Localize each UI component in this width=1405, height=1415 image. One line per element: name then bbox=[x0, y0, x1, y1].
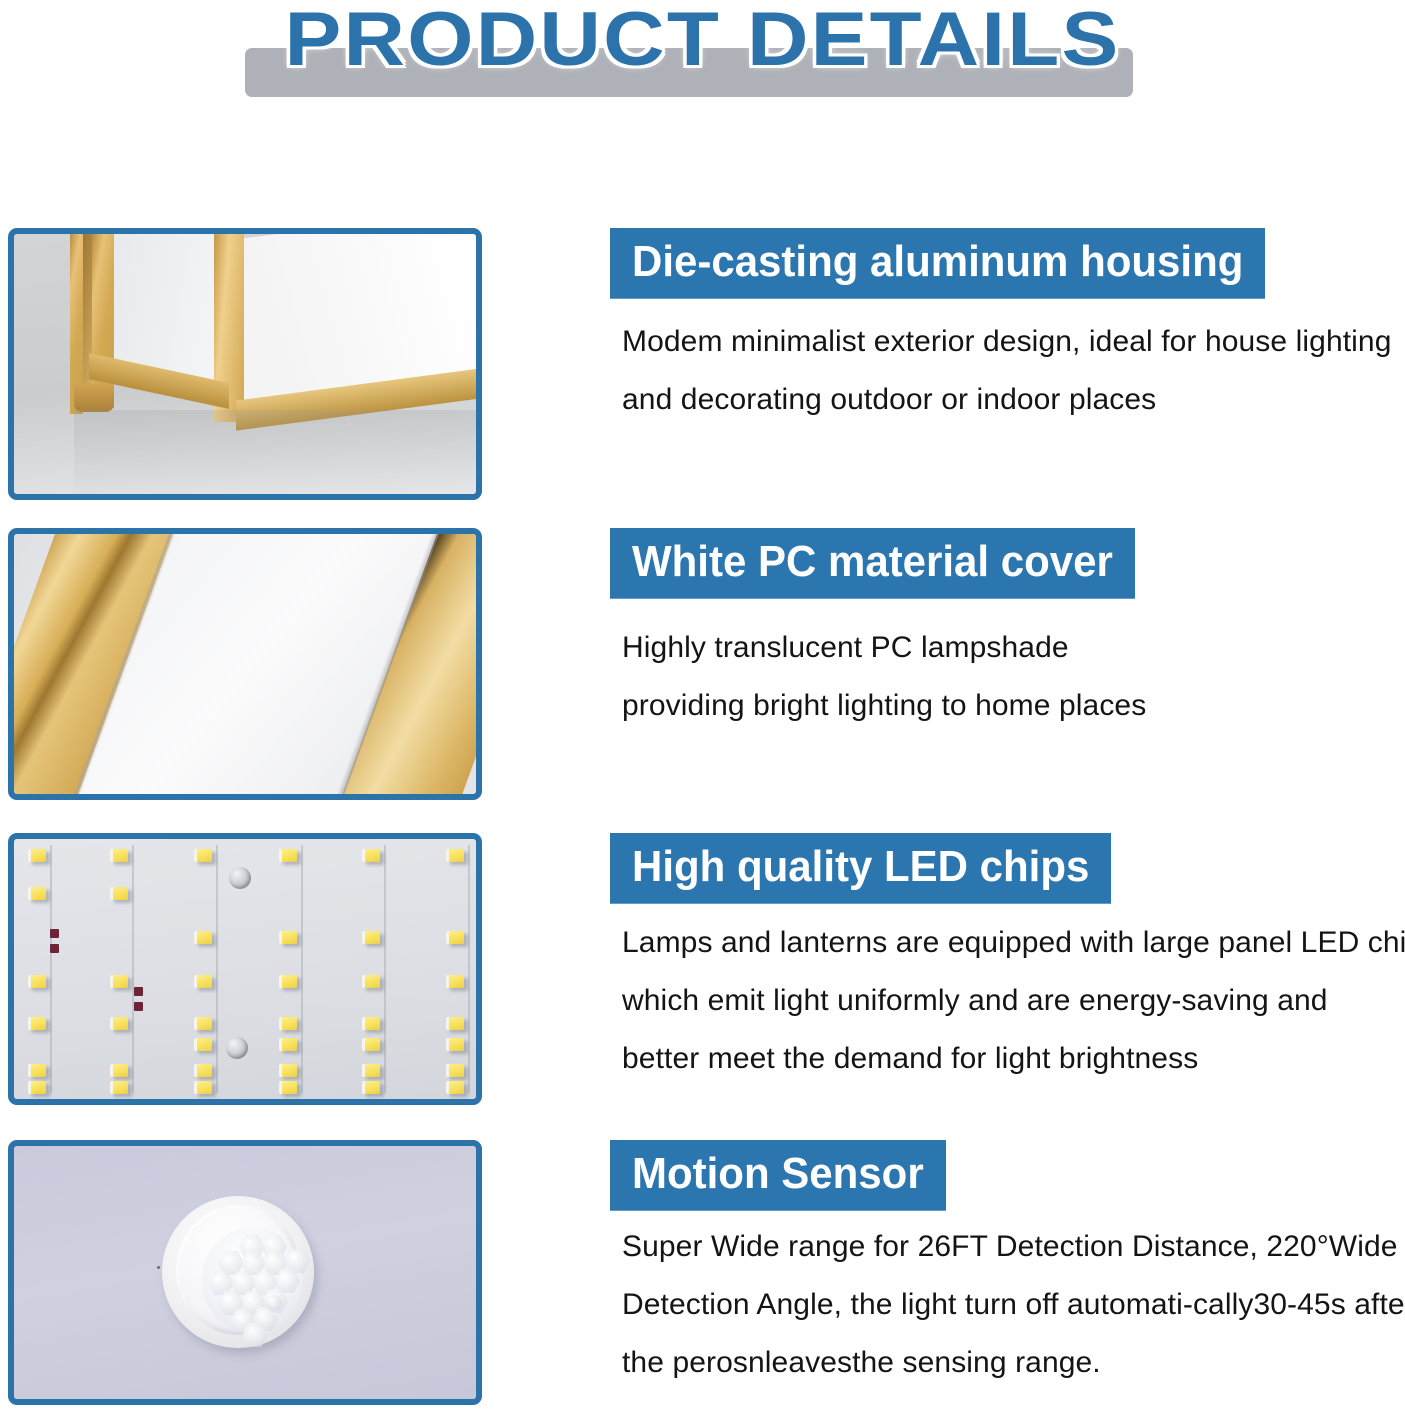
led-chip bbox=[362, 1017, 380, 1030]
feature-row: Motion Sensor Super Wide range for 26FT … bbox=[0, 1140, 1405, 1405]
led-chip bbox=[362, 1038, 380, 1051]
description-line: providing bright lighting to home places bbox=[622, 677, 1400, 735]
sensor-ring bbox=[176, 1205, 300, 1335]
led-chip bbox=[279, 1081, 297, 1094]
feature-text-block: White PC material cover Highly transluce… bbox=[610, 528, 1400, 735]
feature-text-block: Die-casting aluminum housing Modem minim… bbox=[610, 228, 1400, 429]
led-chip bbox=[110, 849, 128, 862]
led-chip bbox=[279, 1038, 297, 1051]
led-chip bbox=[362, 975, 380, 988]
smd-resistor bbox=[134, 987, 143, 996]
led-chip bbox=[28, 849, 46, 862]
feature-heading: Die-casting aluminum housing bbox=[610, 228, 1265, 299]
led-chip-board-photo bbox=[8, 833, 482, 1105]
led-chip bbox=[362, 931, 380, 944]
description-line: which emit light uniformly and are energ… bbox=[622, 972, 1400, 1030]
feature-description: Highly translucent PC lampshade providin… bbox=[610, 619, 1400, 735]
sensor-housing bbox=[162, 1196, 314, 1348]
surface-speck bbox=[157, 1266, 160, 1269]
led-chip bbox=[28, 1064, 46, 1077]
led-chip bbox=[110, 1064, 128, 1077]
smd-resistor bbox=[50, 929, 59, 938]
led-chip bbox=[28, 1017, 46, 1030]
mounting-hole bbox=[229, 867, 251, 889]
feature-text-block: High quality LED chips Lamps and lantern… bbox=[610, 833, 1400, 1088]
led-chip bbox=[446, 1064, 464, 1077]
pcb-trace bbox=[216, 845, 218, 1093]
sensor-fresnel-dome bbox=[202, 1227, 302, 1333]
led-chip bbox=[194, 931, 212, 944]
led-chip bbox=[28, 1081, 46, 1094]
led-chip bbox=[279, 931, 297, 944]
led-chip bbox=[279, 1017, 297, 1030]
pcb-trace bbox=[50, 845, 52, 1093]
page-title: PRODUCT DETAILS bbox=[0, 0, 1405, 83]
feature-text-block: Motion Sensor Super Wide range for 26FT … bbox=[610, 1140, 1400, 1392]
led-chip bbox=[362, 849, 380, 862]
description-line: Detection Angle, the light turn off auto… bbox=[622, 1276, 1400, 1334]
feature-description: Lamps and lanterns are equipped with lar… bbox=[610, 914, 1400, 1088]
gold-foot bbox=[74, 384, 114, 412]
led-chip bbox=[194, 1017, 212, 1030]
fresnel-center-nub bbox=[266, 1295, 282, 1311]
led-chip bbox=[446, 931, 464, 944]
led-chip bbox=[446, 849, 464, 862]
smd-resistor bbox=[50, 944, 59, 953]
led-chip bbox=[28, 887, 46, 900]
led-chip bbox=[28, 975, 46, 988]
led-chip bbox=[194, 1081, 212, 1094]
description-line: Highly translucent PC lampshade bbox=[622, 619, 1400, 677]
description-line: and decorating outdoor or indoor places bbox=[622, 371, 1400, 429]
description-line: Super Wide range for 26FT Detection Dist… bbox=[622, 1218, 1400, 1276]
description-line: the perosnleavesthe sensing range. bbox=[622, 1334, 1400, 1392]
led-chip bbox=[110, 1081, 128, 1094]
led-chip bbox=[279, 1064, 297, 1077]
led-chip bbox=[194, 975, 212, 988]
smd-resistor bbox=[134, 1002, 143, 1011]
mounting-hole bbox=[226, 1037, 248, 1059]
led-chip bbox=[446, 975, 464, 988]
photo-shadow bbox=[74, 410, 482, 500]
led-chip bbox=[194, 849, 212, 862]
led-chip bbox=[110, 1017, 128, 1030]
pcb-trace bbox=[468, 845, 470, 1093]
feature-description: Modem minimalist exterior design, ideal … bbox=[610, 313, 1400, 429]
led-chip bbox=[279, 849, 297, 862]
feature-heading: White PC material cover bbox=[610, 528, 1135, 599]
header: PRODUCT DETAILS bbox=[0, 0, 1405, 130]
led-chip bbox=[362, 1081, 380, 1094]
gold-lantern-corner-photo bbox=[8, 228, 482, 500]
led-chip bbox=[194, 1064, 212, 1077]
pir-motion-sensor-photo bbox=[8, 1140, 482, 1405]
feature-heading: High quality LED chips bbox=[610, 833, 1111, 904]
feature-heading: Motion Sensor bbox=[610, 1140, 946, 1211]
description-line: Lamps and lanterns are equipped with lar… bbox=[622, 914, 1400, 972]
description-line: better meet the demand for light brightn… bbox=[622, 1030, 1400, 1088]
pcb-trace bbox=[301, 845, 303, 1093]
gold-post-edge-b bbox=[83, 228, 92, 410]
led-chip bbox=[110, 887, 128, 900]
led-chip bbox=[194, 1038, 212, 1051]
led-chip bbox=[446, 1038, 464, 1051]
pcb-trace bbox=[384, 845, 386, 1093]
led-chip bbox=[110, 975, 128, 988]
led-chip bbox=[446, 1081, 464, 1094]
led-chip bbox=[446, 1017, 464, 1030]
description-line: Modem minimalist exterior design, ideal … bbox=[622, 313, 1400, 371]
feature-row: High quality LED chips Lamps and lantern… bbox=[0, 833, 1405, 1105]
feature-row: Die-casting aluminum housing Modem minim… bbox=[0, 228, 1405, 500]
led-chip bbox=[279, 975, 297, 988]
pcb-trace bbox=[132, 845, 134, 1093]
feature-row: White PC material cover Highly transluce… bbox=[0, 528, 1405, 800]
white-pc-cover-photo bbox=[8, 528, 482, 800]
led-chip bbox=[362, 1064, 380, 1077]
feature-description: Super Wide range for 26FT Detection Dist… bbox=[610, 1218, 1400, 1392]
